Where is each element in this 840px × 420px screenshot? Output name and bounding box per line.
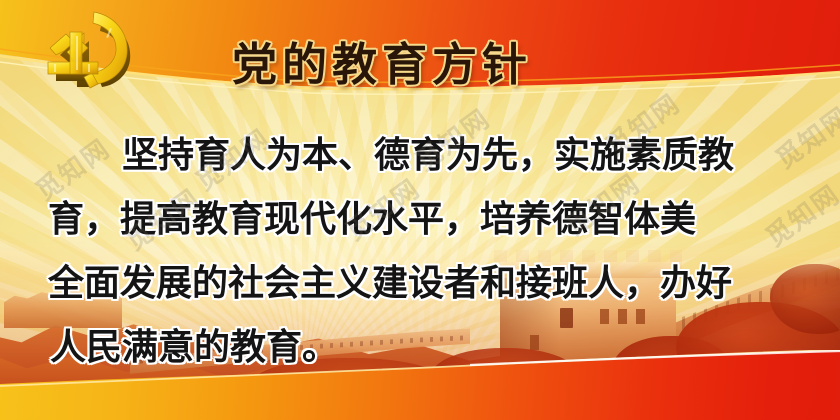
education-policy-poster: 党的教育方针 坚持育人为本、德育为先，实施素质教 育，提高教育现代化水平，培养德… <box>0 0 840 420</box>
policy-text-line: 坚持育人为本、德育为先，实施素质教 <box>122 126 734 178</box>
party-emblem-icon <box>36 10 144 96</box>
page-title: 党的教育方针 <box>232 34 632 96</box>
policy-text-line: 全面发展的社会主义建设者和接班人，办好 <box>48 254 732 306</box>
policy-text-line: 育，提高教育现代化水平，培养德智体美 <box>48 190 696 242</box>
policy-text-line: 人民满意的教育。 <box>50 318 338 370</box>
policy-text-block: 坚持育人为本、德育为先，实施素质教 育，提高教育现代化水平，培养德智体美 全面发… <box>0 112 840 382</box>
